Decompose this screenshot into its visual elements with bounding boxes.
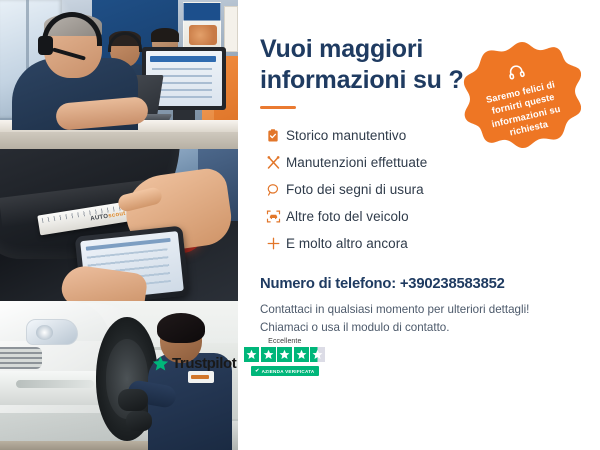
feature-item-altre-foto-veicolo[interactable]: Altre foto del veicolo xyxy=(260,203,578,230)
magnifier-icon xyxy=(260,182,286,197)
contact-copy-line-2: Chiamaci o usa il modulo di contatto. xyxy=(260,319,578,337)
trustpilot-logo: Trustpilot xyxy=(152,355,236,376)
trustpilot-rating-word: Eccellente xyxy=(268,338,301,345)
contact-copy-line-1: Contattaci in qualsiasi momento per ulte… xyxy=(260,301,578,319)
photo-strip: AUTOscout xyxy=(0,0,238,450)
feature-label: Foto dei segni di usura xyxy=(286,182,424,197)
trustpilot-rating: Eccellente ✔ AZIENDA VERIFICATA xyxy=(244,338,325,376)
car-frame-icon xyxy=(260,209,286,224)
trustpilot-brand-name: Trustpilot xyxy=(172,355,236,372)
feature-item-foto-segni-usura[interactable]: Foto dei segni di usura xyxy=(260,176,578,203)
star-2 xyxy=(261,347,276,362)
trustpilot-stars xyxy=(244,347,325,362)
phone-number-line[interactable]: Numero di telefono: +390238583852 xyxy=(260,276,578,292)
plus-icon xyxy=(260,236,286,251)
trustpilot-widget[interactable]: Trustpilot Eccellente ✔ AZIENDA VERIFICA… xyxy=(152,338,325,376)
call-center-operators-photo xyxy=(0,0,238,149)
accent-divider xyxy=(260,106,296,109)
phone-label: Numero di telefono: xyxy=(260,276,400,292)
verified-company-badge: ✔ AZIENDA VERIFICATA xyxy=(251,366,318,376)
phone-number[interactable]: +390238583852 xyxy=(400,276,505,292)
contact-copy: Contattaci in qualsiasi momento per ulte… xyxy=(260,301,578,337)
star-3 xyxy=(277,347,292,362)
car-damage-measurement-photo: AUTOscout xyxy=(0,149,238,301)
feature-label: Manutenzioni effettuate xyxy=(286,155,427,170)
star-1 xyxy=(244,347,259,362)
star-4 xyxy=(294,347,309,362)
starburst-shape xyxy=(463,40,581,158)
feature-label: Altre foto del veicolo xyxy=(286,209,409,224)
trustpilot-star-icon xyxy=(152,355,169,372)
page-title: Vuoi maggiori informazioni su ? xyxy=(260,34,470,95)
feature-label: Storico manutentivo xyxy=(286,128,406,143)
verified-label: AZIENDA VERIFICATA xyxy=(262,369,315,374)
clipboard-check-icon xyxy=(260,129,286,143)
star-5-partial xyxy=(310,347,325,362)
promo-banner: AUTOscout xyxy=(0,0,600,450)
verified-check-icon: ✔ xyxy=(255,368,259,374)
tools-cross-icon xyxy=(260,155,286,170)
callout-badge[interactable]: Saremo felici di fornirti queste informa… xyxy=(463,40,581,158)
feature-label: E molto altro ancora xyxy=(286,236,408,251)
feature-item-molto-altro[interactable]: E molto altro ancora xyxy=(260,230,578,257)
